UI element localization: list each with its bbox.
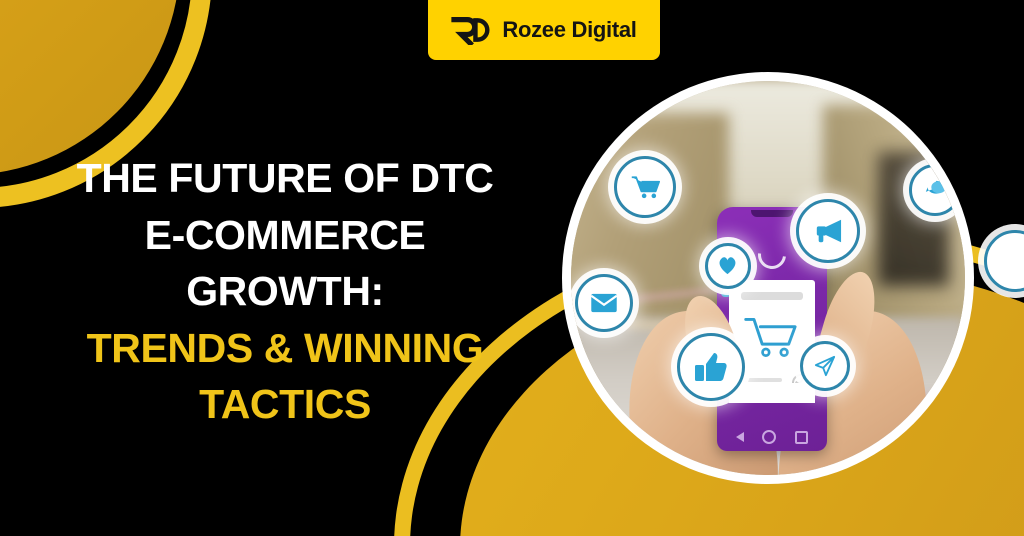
shopping-cart-icon	[614, 156, 676, 218]
circular-photo-frame	[562, 72, 974, 484]
recent-square-icon	[795, 431, 808, 444]
email-envelope-icon	[575, 274, 633, 332]
promo-banner: Rozee Digital THE FUTURE OF DTC E-COMMER…	[0, 0, 1024, 536]
paper-plane-icon	[800, 341, 850, 391]
card-shopping-cart-icon	[743, 311, 802, 363]
headline-line-4: TRENDS & WINNING	[30, 320, 540, 377]
phone-white-band	[729, 383, 815, 403]
phone-crescent-icon	[752, 236, 791, 275]
headline-line-2: E-COMMERCE	[30, 207, 540, 264]
headline-line-1: THE FUTURE OF DTC	[30, 150, 540, 207]
card-text-line-1	[739, 378, 782, 383]
card-title-bar	[741, 292, 803, 300]
phone-notch	[751, 210, 793, 217]
photo-mobile-shopping	[571, 81, 965, 475]
back-triangle-icon	[736, 432, 744, 442]
brand-logo-text: Rozee Digital	[502, 17, 636, 43]
phone-nav-bar	[717, 430, 827, 444]
headline-block: THE FUTURE OF DTC E-COMMERCE GROWTH: TRE…	[30, 150, 540, 433]
brand-logo-badge[interactable]: Rozee Digital	[428, 0, 660, 60]
headline-line-5: TACTICS	[30, 376, 540, 433]
headline-line-3: GROWTH:	[30, 263, 540, 320]
heart-icon	[705, 243, 751, 289]
megaphone-icon	[796, 199, 860, 263]
chat-bubbles-icon	[909, 164, 961, 216]
home-circle-icon	[762, 430, 776, 444]
rozee-rd-monogram-icon	[451, 15, 491, 45]
